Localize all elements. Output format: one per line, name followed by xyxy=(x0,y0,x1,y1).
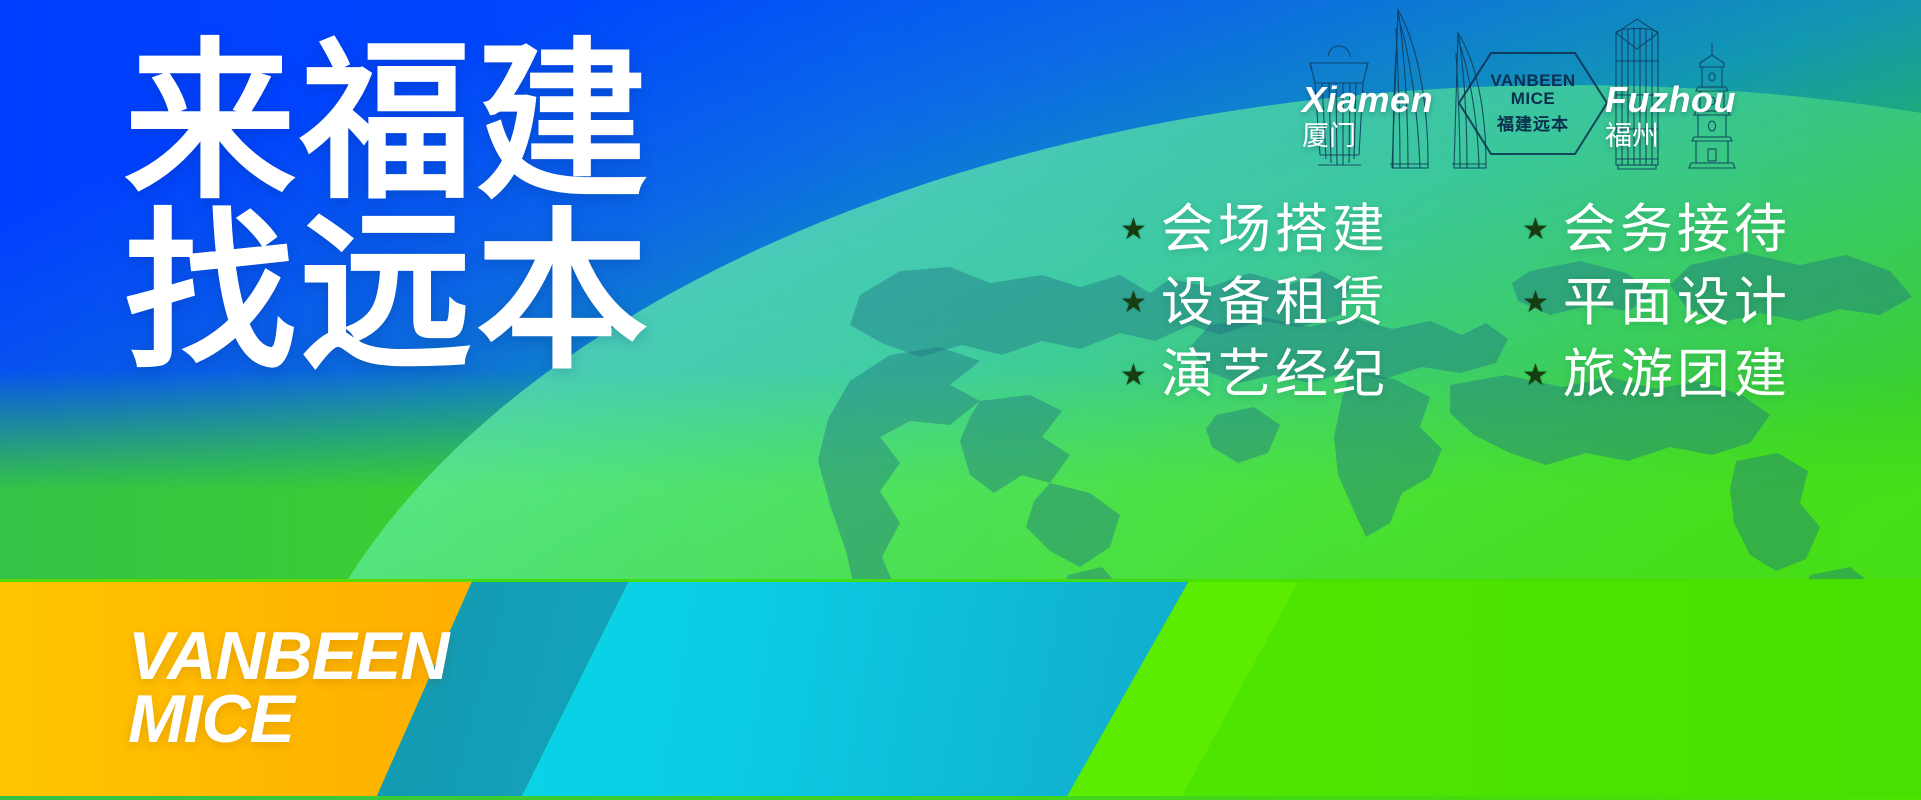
badge-brand-line-2: MICE xyxy=(1511,90,1556,108)
city-landmark-row: VANBEEN MICE 福建远本 xyxy=(1290,6,1850,171)
city-name-xiamen-en: Xiamen xyxy=(1302,82,1433,118)
service-item: ★ 设备租赁 xyxy=(1120,271,1508,336)
service-item: ★ 演艺经纪 xyxy=(1120,343,1508,408)
service-item: ★ 会务接待 xyxy=(1522,198,1910,263)
service-label: 会场搭建 xyxy=(1161,198,1389,263)
bar-bottom-divider xyxy=(0,796,1921,800)
bar-top-divider xyxy=(0,579,1921,582)
star-icon: ★ xyxy=(1120,288,1147,318)
page-title: 来福建 找远本 xyxy=(124,38,744,379)
badge-brand-line-1: VANBEEN xyxy=(1490,72,1575,90)
star-icon: ★ xyxy=(1522,215,1549,245)
service-label: 设备租赁 xyxy=(1161,271,1389,336)
star-icon: ★ xyxy=(1522,361,1549,391)
city-name-fuzhou-cn: 福州 xyxy=(1605,121,1736,152)
service-item: ★ 平面设计 xyxy=(1522,271,1910,336)
city-name-xiamen-cn: 厦门 xyxy=(1302,121,1433,152)
city-name-fuzhou-en: Fuzhou xyxy=(1605,82,1736,118)
service-label: 平面设计 xyxy=(1563,271,1791,336)
star-icon: ★ xyxy=(1120,215,1147,245)
service-list: ★ 会场搭建 ★ 会务接待 ★ 设备租赁 ★ 平面设计 ★ 演艺经纪 ★ 旅游团… xyxy=(1120,198,1910,408)
star-icon: ★ xyxy=(1522,288,1549,318)
city-name-fuzhou: Fuzhou 福州 xyxy=(1605,82,1736,152)
badge-brand-cn: 福建远本 xyxy=(1497,110,1569,135)
city-name-xiamen: Xiamen 厦门 xyxy=(1302,82,1433,152)
star-icon: ★ xyxy=(1120,361,1147,391)
headline-line-2: 找远本 xyxy=(124,208,744,378)
brand-wordmark: VANBEEN MICE xyxy=(128,625,448,750)
brand-wordmark-line-2: MICE xyxy=(128,688,448,751)
promotional-banner: 来福建 找远本 xyxy=(0,0,1921,800)
bottom-brand-bar: VANBEEN MICE xyxy=(0,579,1921,800)
service-label: 旅游团建 xyxy=(1563,343,1791,408)
service-label: 演艺经纪 xyxy=(1161,343,1389,408)
service-item: ★ 旅游团建 xyxy=(1522,343,1910,408)
service-item: ★ 会场搭建 xyxy=(1120,198,1508,263)
service-label: 会务接待 xyxy=(1563,198,1791,263)
